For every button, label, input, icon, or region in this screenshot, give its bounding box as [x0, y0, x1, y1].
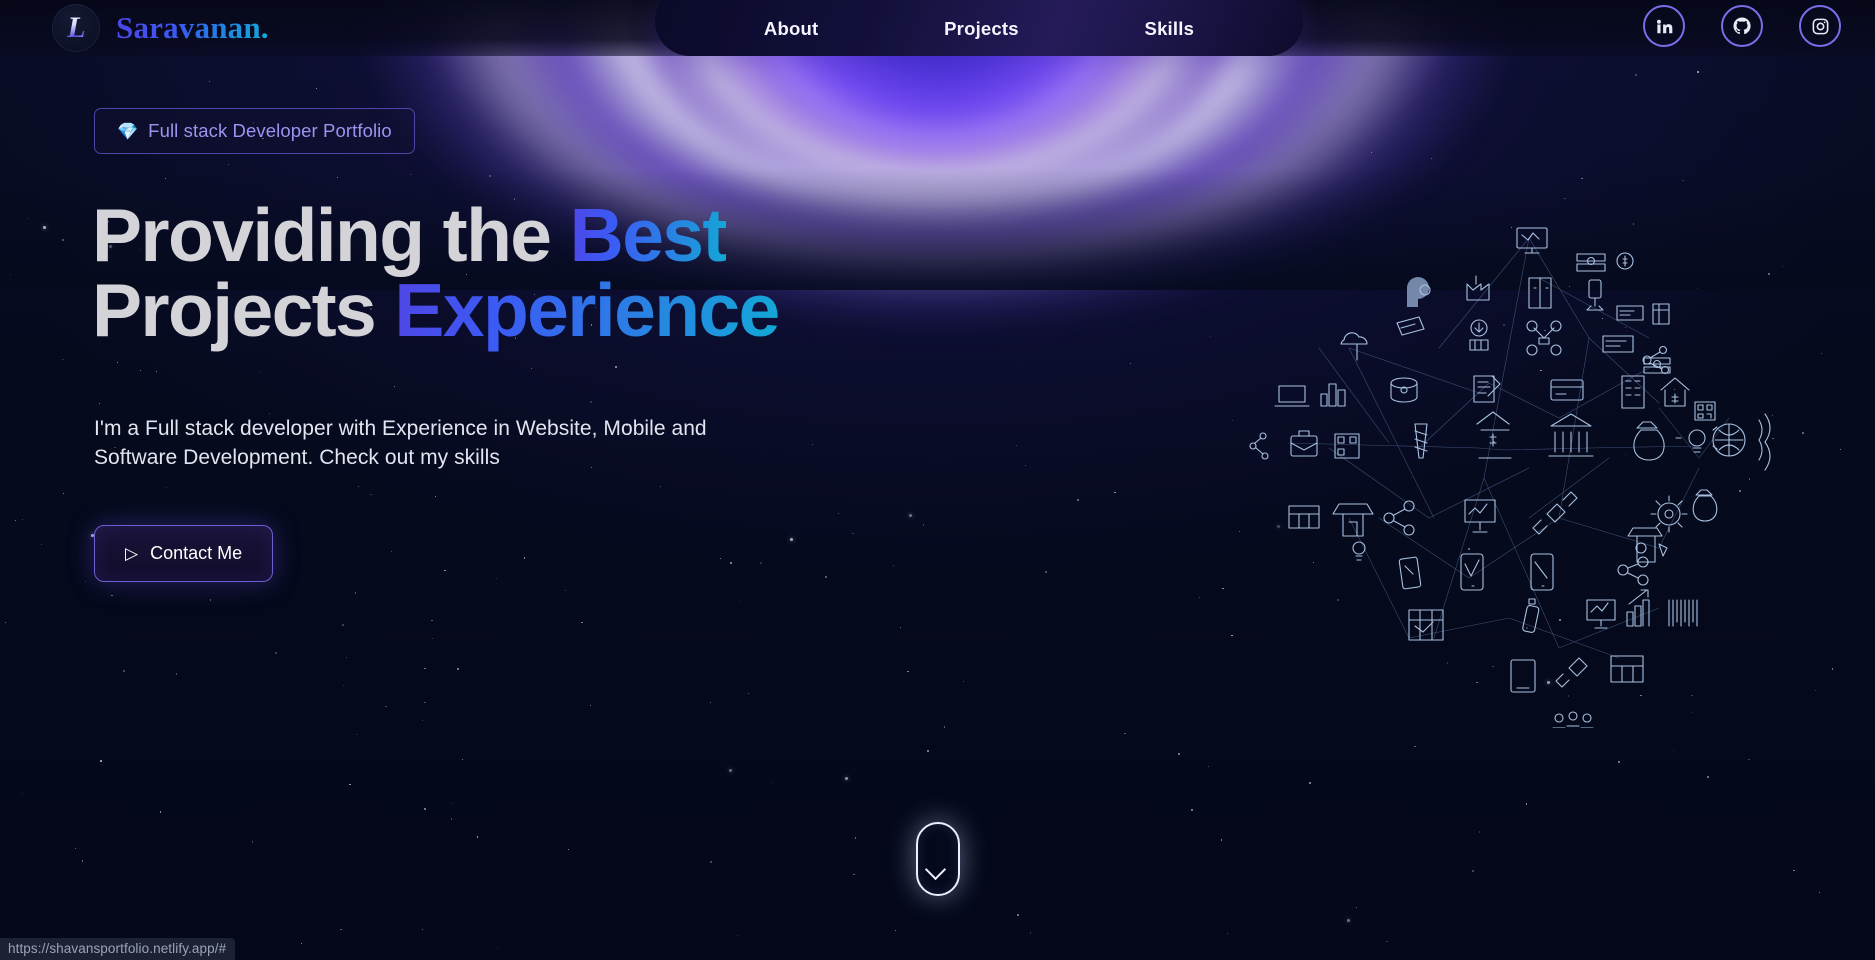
main-nav: About Projects Skills: [655, 0, 1303, 56]
nav-link-projects[interactable]: Projects: [934, 14, 1029, 44]
send-icon: ▷: [125, 545, 138, 562]
page-stage: 💎 Full stack Developer Portfolio Providi…: [0, 0, 1875, 960]
contact-me-label: Contact Me: [150, 543, 242, 564]
instagram-link[interactable]: [1799, 5, 1841, 47]
headline-accent-1: Best: [570, 193, 726, 277]
brand-logo[interactable]: L Saravanan.: [52, 4, 269, 52]
linkedin-link[interactable]: [1643, 5, 1685, 47]
contact-me-button[interactable]: ▷ Contact Me: [94, 525, 273, 582]
chevron-down-icon: [928, 862, 948, 874]
headline-line-2: Projects Experience: [92, 273, 912, 348]
portfolio-badge-label: Full stack Developer Portfolio: [148, 120, 392, 142]
browser-status-bar: https://shavansportfolio.netlify.app/#: [0, 938, 235, 960]
nav-link-about[interactable]: About: [754, 14, 828, 44]
github-link[interactable]: [1721, 5, 1763, 47]
scroll-down-indicator[interactable]: [916, 822, 960, 896]
hero-subtitle: I'm a Full stack developer with Experien…: [94, 415, 794, 473]
nav-link-skills[interactable]: Skills: [1135, 14, 1205, 44]
github-icon: [1732, 16, 1752, 36]
site-header: L Saravanan. About Projects Skills: [0, 0, 1875, 56]
headline-line-1: Providing the Best: [92, 198, 912, 273]
headline-plain-2: Projects: [92, 268, 394, 352]
linkedin-icon: [1655, 17, 1674, 36]
gem-icon: 💎: [117, 123, 138, 140]
headline-accent-2: Experience: [394, 268, 778, 352]
instagram-icon: [1811, 17, 1830, 36]
portfolio-badge[interactable]: 💎 Full stack Developer Portfolio: [94, 108, 415, 154]
page-title: Providing the Best Projects Experience: [92, 198, 912, 348]
headline-plain-1: Providing the: [92, 193, 570, 277]
hero-section: 💎 Full stack Developer Portfolio Providi…: [0, 0, 1875, 960]
brand-name: Saravanan.: [116, 10, 269, 46]
monogram-l-icon: L: [52, 4, 100, 52]
monogram-letter: L: [67, 13, 84, 43]
mouse-outline-icon: [916, 822, 960, 896]
social-links: [1643, 5, 1841, 47]
